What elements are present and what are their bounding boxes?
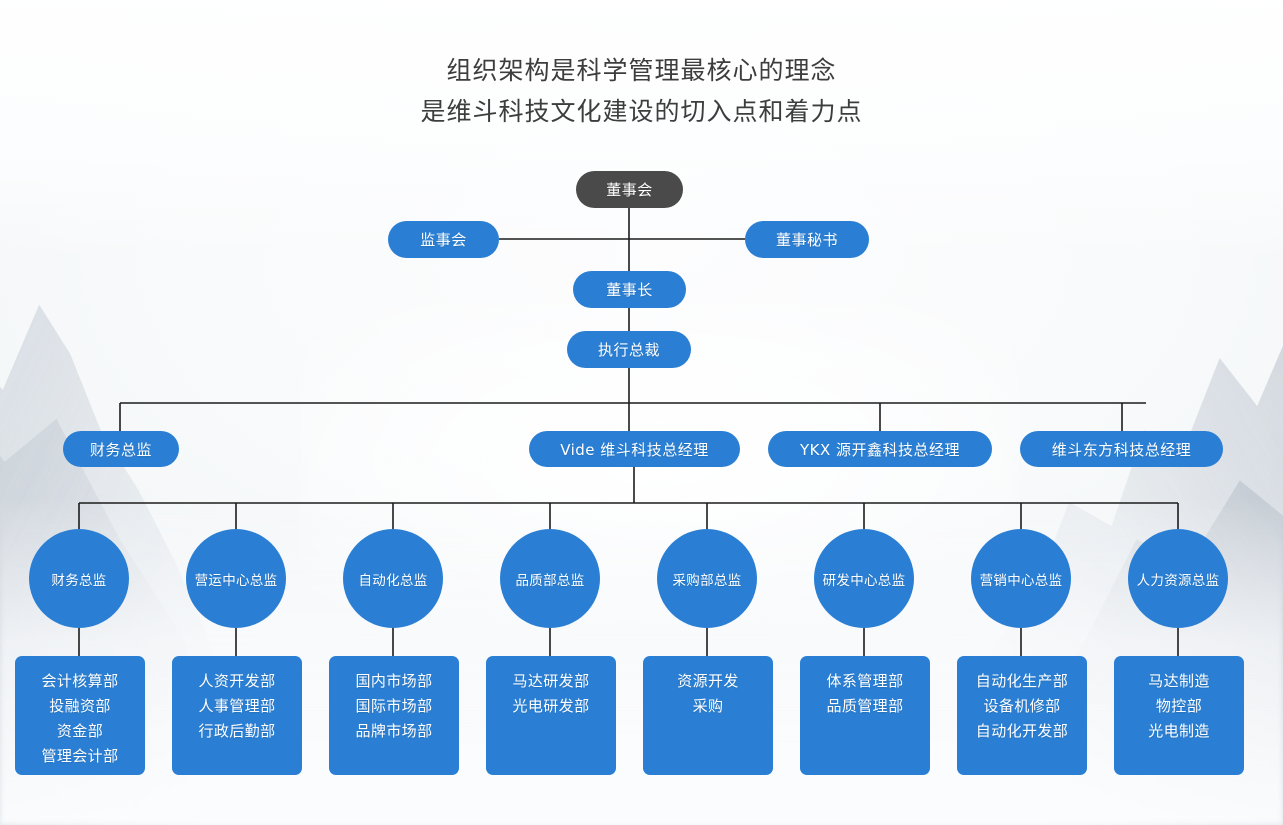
node-dept-hr-manufacturing[interactable]: 马达制造 物控部 光电制造	[1114, 656, 1244, 775]
node-board-secretary[interactable]: 董事秘书	[745, 221, 869, 258]
dept-operations-line-3: 行政后勤部	[172, 719, 302, 744]
dept-finance-line-4: 管理会计部	[15, 744, 145, 769]
dept-automation-line-2: 国际市场部	[329, 694, 459, 719]
node-board-secretary-label: 董事秘书	[776, 229, 838, 250]
node-director-quality[interactable]: 品质部总监	[500, 529, 600, 628]
dept-finance-line-1: 会计核算部	[15, 669, 145, 694]
dept-rd-line-2: 品质管理部	[800, 694, 930, 719]
dept-finance-line-3: 资金部	[15, 719, 145, 744]
node-dept-finance[interactable]: 会计核算部 投融资部 资金部 管理会计部	[15, 656, 145, 775]
node-director-operations[interactable]: 营运中心总监	[186, 529, 286, 628]
node-supervisory-board[interactable]: 监事会	[388, 221, 499, 258]
node-director-purchasing[interactable]: 采购部总监	[657, 529, 757, 628]
node-director-marketing-label: 营销中心总监	[980, 569, 1063, 589]
dept-operations-line-1: 人资开发部	[172, 669, 302, 694]
node-supervisory-board-label: 监事会	[420, 229, 467, 250]
page-title: 组织架构是科学管理最核心的理念 是维斗科技文化建设的切入点和着力点	[0, 50, 1283, 132]
dept-operations-line-2: 人事管理部	[172, 694, 302, 719]
node-director-hr-label: 人力资源总监	[1137, 569, 1220, 589]
node-director-finance-label: 财务总监	[51, 569, 106, 589]
node-director-hr[interactable]: 人力资源总监	[1128, 529, 1228, 628]
node-dept-marketing-production[interactable]: 自动化生产部 设备机修部 自动化开发部	[957, 656, 1087, 775]
dept-quality-line-2: 光电研发部	[486, 694, 616, 719]
node-executive-president[interactable]: 执行总裁	[567, 331, 691, 368]
dept-marketing-line-3: 自动化开发部	[957, 719, 1087, 744]
dept-purchasing-line-1: 资源开发	[643, 669, 773, 694]
node-executive-president-label: 执行总裁	[598, 339, 660, 360]
node-director-rd[interactable]: 研发中心总监	[814, 529, 914, 628]
dept-hr-line-3: 光电制造	[1114, 719, 1244, 744]
node-gm-ykx[interactable]: YKX 源开鑫科技总经理	[768, 431, 992, 467]
node-cfo-label: 财务总监	[90, 439, 152, 460]
node-director-finance[interactable]: 财务总监	[29, 529, 129, 628]
node-director-automation[interactable]: 自动化总监	[343, 529, 443, 628]
node-director-rd-label: 研发中心总监	[823, 569, 906, 589]
dept-purchasing-line-2: 采购	[643, 694, 773, 719]
node-gm-dongfang[interactable]: 维斗东方科技总经理	[1020, 431, 1223, 467]
node-dept-automation-market[interactable]: 国内市场部 国际市场部 品牌市场部	[329, 656, 459, 775]
node-gm-dongfang-label: 维斗东方科技总经理	[1052, 439, 1192, 460]
dept-hr-line-1: 马达制造	[1114, 669, 1244, 694]
dept-marketing-line-1: 自动化生产部	[957, 669, 1087, 694]
node-director-automation-label: 自动化总监	[359, 569, 428, 589]
node-director-marketing[interactable]: 营销中心总监	[971, 529, 1071, 628]
node-gm-ykx-label: YKX 源开鑫科技总经理	[800, 439, 960, 460]
node-gm-vide-label: Vide 维斗科技总经理	[560, 439, 709, 460]
node-chairman-label: 董事长	[606, 279, 653, 300]
org-chart-page: 组织架构是科学管理最核心的理念 是维斗科技文化建设的切入点和着力点	[0, 0, 1283, 825]
node-director-purchasing-label: 采购部总监	[673, 569, 742, 589]
page-title-line-2: 是维斗科技文化建设的切入点和着力点	[0, 91, 1283, 132]
node-dept-quality-rd[interactable]: 马达研发部 光电研发部	[486, 656, 616, 775]
node-director-quality-label: 品质部总监	[516, 569, 585, 589]
node-cfo[interactable]: 财务总监	[63, 431, 179, 467]
dept-automation-line-1: 国内市场部	[329, 669, 459, 694]
dept-marketing-line-2: 设备机修部	[957, 694, 1087, 719]
dept-hr-line-2: 物控部	[1114, 694, 1244, 719]
node-board-of-directors[interactable]: 董事会	[576, 171, 683, 208]
node-director-operations-label: 营运中心总监	[195, 569, 278, 589]
node-gm-vide[interactable]: Vide 维斗科技总经理	[529, 431, 740, 467]
dept-finance-line-2: 投融资部	[15, 694, 145, 719]
node-dept-operations[interactable]: 人资开发部 人事管理部 行政后勤部	[172, 656, 302, 775]
dept-quality-line-1: 马达研发部	[486, 669, 616, 694]
node-board-of-directors-label: 董事会	[606, 179, 653, 200]
node-dept-rd-system[interactable]: 体系管理部 品质管理部	[800, 656, 930, 775]
page-title-line-1: 组织架构是科学管理最核心的理念	[0, 50, 1283, 91]
dept-rd-line-1: 体系管理部	[800, 669, 930, 694]
node-chairman[interactable]: 董事长	[573, 271, 686, 308]
node-dept-purchasing[interactable]: 资源开发 采购	[643, 656, 773, 775]
dept-automation-line-3: 品牌市场部	[329, 719, 459, 744]
